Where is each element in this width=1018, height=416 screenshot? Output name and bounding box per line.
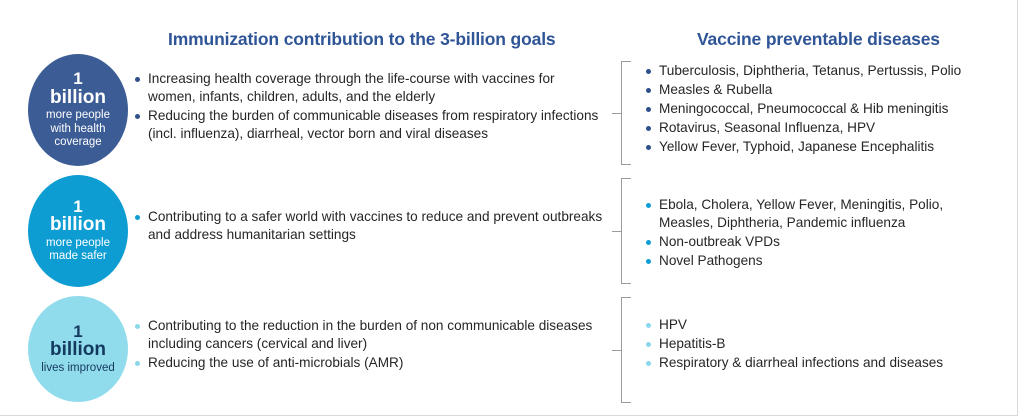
disease-list-row-1: Tuberculosis, Diphtheria, Tetanus, Pertu… bbox=[645, 62, 985, 157]
bracket-tick bbox=[612, 113, 622, 114]
circle-number: 1 bbox=[73, 70, 82, 88]
right-column-header: Vaccine preventable diseases bbox=[697, 29, 940, 50]
circle-unit: billion bbox=[50, 215, 106, 236]
list-item: Measles & Rubella bbox=[645, 81, 985, 99]
circle-unit: billion bbox=[50, 88, 106, 109]
list-item: Hepatitis-B bbox=[645, 335, 985, 353]
disease-list-row-3: HPVHepatitis-BRespiratory & diarrheal in… bbox=[645, 316, 985, 373]
bracket-cap-bottom bbox=[621, 402, 631, 403]
list-item: Respiratory & diarrheal infections and d… bbox=[645, 354, 985, 372]
circle-subtitle: lives improved bbox=[41, 362, 115, 376]
goal-circle-health-coverage: 1 billion more peoplewith healthcoverage bbox=[28, 54, 128, 166]
list-item: Contributing to a safer world with vacci… bbox=[134, 208, 604, 244]
row-bracket-1 bbox=[612, 58, 634, 168]
left-column-header: Immunization contribution to the 3-billi… bbox=[168, 29, 556, 50]
bracket-cap-top bbox=[621, 178, 631, 179]
bracket-cap-bottom bbox=[621, 164, 631, 165]
list-item: Reducing the use of anti-microbials (AMR… bbox=[134, 354, 604, 372]
goal-circle-made-safer: 1 billion more peoplemade safer bbox=[28, 175, 128, 287]
goal-circle-lives-improved: 1 billion lives improved bbox=[28, 296, 128, 402]
infographic-canvas: Immunization contribution to the 3-billi… bbox=[0, 0, 1018, 416]
list-item: Yellow Fever, Typhoid, Japanese Encephal… bbox=[645, 138, 985, 156]
goal-list-row-1: Increasing health coverage through the l… bbox=[134, 70, 604, 144]
list-item: Rotavirus, Seasonal Influenza, HPV bbox=[645, 119, 985, 137]
bracket-tick bbox=[612, 231, 622, 232]
list-item: Contributing to the reduction in the bur… bbox=[134, 317, 604, 353]
bracket-cap-bottom bbox=[621, 283, 631, 284]
list-item: Ebola, Cholera, Yellow Fever, Meningitis… bbox=[645, 196, 975, 232]
goal-list-row-3: Contributing to the reduction in the bur… bbox=[134, 317, 604, 373]
circle-subtitle: more peoplemade safer bbox=[46, 237, 110, 264]
bracket-cap-top bbox=[621, 61, 631, 62]
circle-unit: billion bbox=[50, 340, 106, 361]
list-item: Meningococcal, Pneumococcal & Hib mening… bbox=[645, 100, 985, 118]
disease-list-row-2: Ebola, Cholera, Yellow Fever, Meningitis… bbox=[645, 196, 975, 271]
circle-subtitle: more peoplewith healthcoverage bbox=[46, 109, 110, 150]
list-item: Increasing health coverage through the l… bbox=[134, 70, 604, 106]
list-item: Non-outbreak VPDs bbox=[645, 233, 975, 251]
row-bracket-2 bbox=[612, 175, 634, 287]
list-item: Tuberculosis, Diphtheria, Tetanus, Pertu… bbox=[645, 62, 985, 80]
bracket-cap-top bbox=[621, 297, 631, 298]
row-bracket-3 bbox=[612, 294, 634, 406]
list-item: HPV bbox=[645, 316, 985, 334]
list-item: Reducing the burden of communicable dise… bbox=[134, 107, 604, 143]
goal-list-row-2: Contributing to a safer world with vacci… bbox=[134, 208, 604, 245]
bracket-tick bbox=[612, 350, 622, 351]
list-item: Novel Pathogens bbox=[645, 252, 975, 270]
